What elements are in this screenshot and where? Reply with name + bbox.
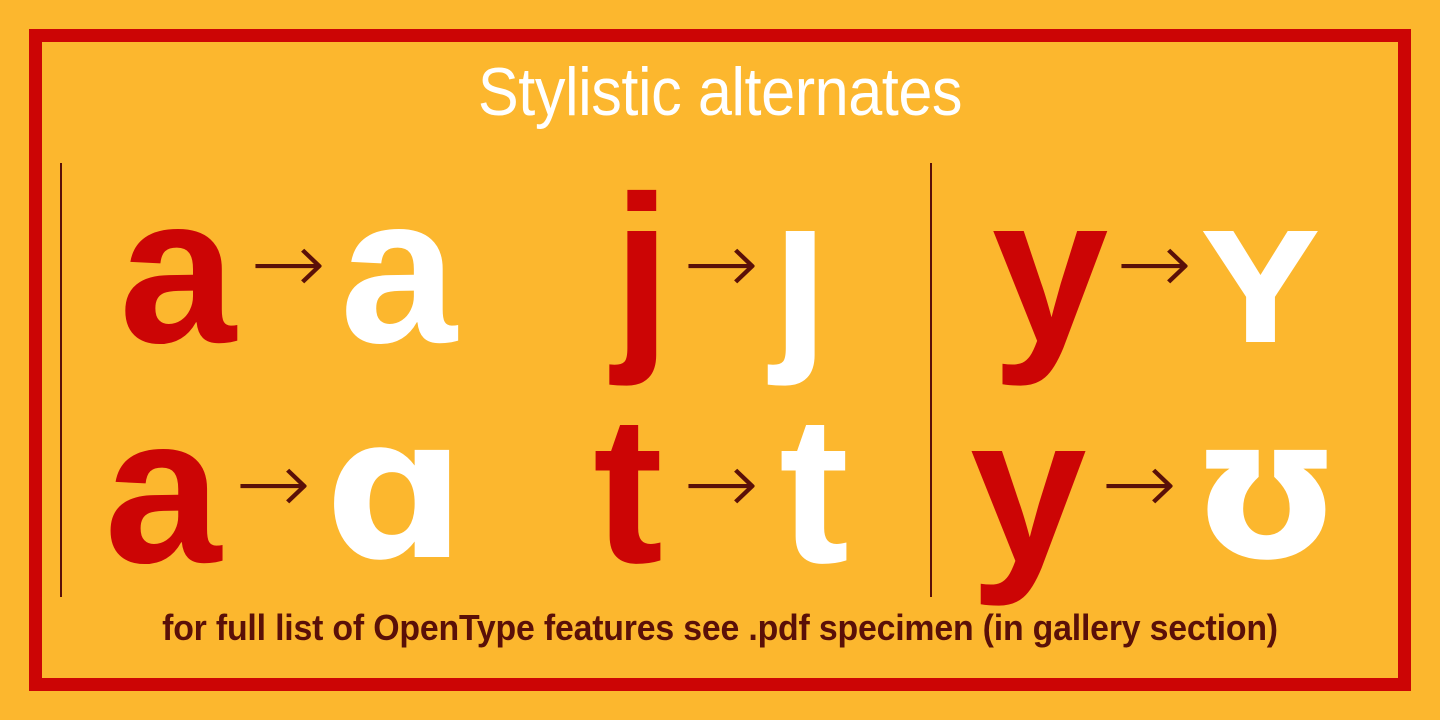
column-c: y → ʏ y → ʊ <box>932 160 1380 600</box>
glyph-source-y: y <box>992 181 1109 360</box>
glyph-pair-j: j → ȷ <box>613 181 830 360</box>
glyph-pair-a-standard: a → a <box>113 181 457 360</box>
arrow-right-icon: → <box>1101 441 1177 527</box>
glyph-pair-row: a → ɑ <box>60 380 510 600</box>
arrow-right-icon: → <box>683 221 759 307</box>
column-a: a → a a → ɑ <box>60 160 510 600</box>
glyph-pair-row: t → t <box>512 380 930 600</box>
glyph-pair-row: y → ʏ <box>932 160 1380 380</box>
glyph-pair-y-round: y → ʊ <box>970 401 1342 580</box>
glyph-pair-row: j → ȷ <box>512 160 930 380</box>
glyph-source-y: y <box>970 401 1087 580</box>
glyph-alternate-alpha: ɑ <box>325 407 465 574</box>
arrow-right-icon: → <box>1117 221 1193 307</box>
column-b: j → ȷ t → t <box>512 160 930 600</box>
glyph-pair-a-alpha: a → ɑ <box>104 401 465 580</box>
glyph-pair-t: t → t <box>593 401 849 580</box>
glyph-alternate-tailless-j: ȷ <box>771 181 829 360</box>
glyph-pair-row: a → a <box>60 160 510 380</box>
glyph-pair-row: y → ʊ <box>932 380 1380 600</box>
glyph-source-t: t <box>593 401 663 580</box>
glyph-source-a: a <box>119 181 236 360</box>
arrow-right-icon: → <box>250 221 326 307</box>
glyph-source-a: a <box>104 401 221 580</box>
specimen-poster: Stylistic alternates a → a a → ɑ <box>0 0 1440 720</box>
glyph-alternate-a: a <box>340 181 457 360</box>
glyph-alternate-straight-y: ʏ <box>1200 181 1320 360</box>
arrow-right-icon: → <box>683 441 759 527</box>
glyph-pair-grid: a → a a → ɑ j → ȷ <box>60 160 1380 600</box>
glyph-alternate-round-y: ʊ <box>1191 407 1342 574</box>
glyph-alternate-straight-t: t <box>779 401 849 580</box>
glyph-pair-y-straight: y → ʏ <box>992 181 1321 360</box>
arrow-right-icon: → <box>235 441 311 527</box>
glyph-source-j: j <box>613 181 671 360</box>
footer-caption: for full list of OpenType features see .… <box>43 606 1397 649</box>
page-title: Stylistic alternates <box>72 58 1368 126</box>
